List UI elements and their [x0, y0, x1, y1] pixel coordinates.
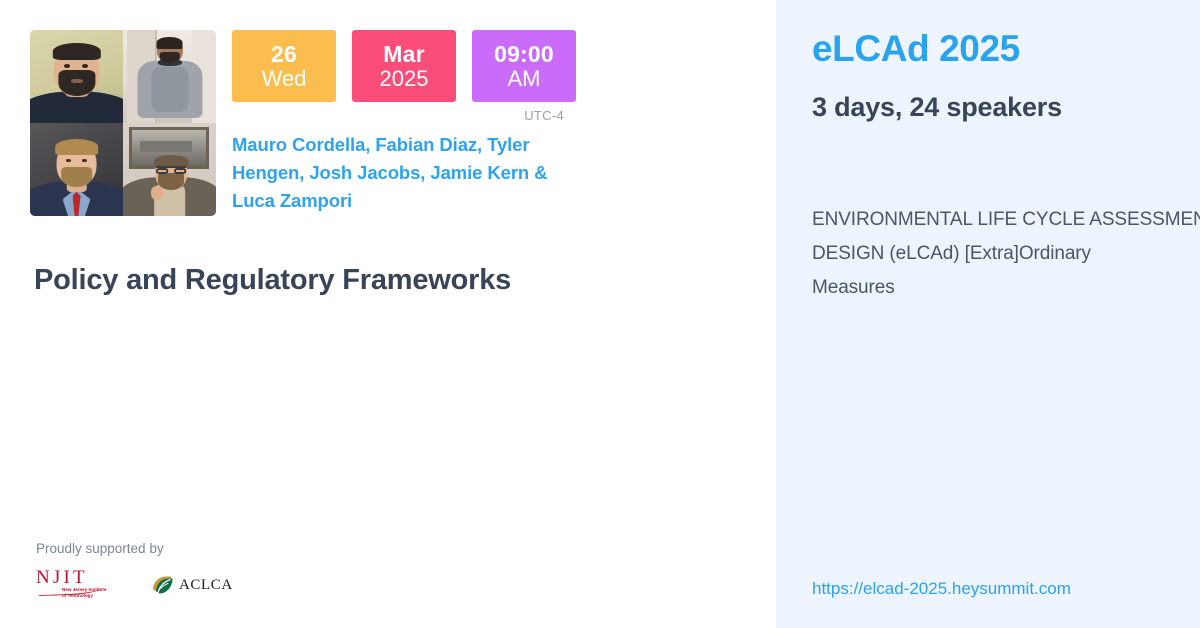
session-meta-column: 26 Wed Mar 2025 09:00 AM UTC-4 Maur [232, 30, 746, 215]
sponsors-section: Proudly supported by NJIT New Jersey Ins… [36, 541, 242, 602]
photo1-beard [58, 70, 95, 96]
aclca-logo-text: ACLCA [179, 577, 233, 594]
day-weekday: Wed [262, 67, 307, 91]
photo2-hair [156, 37, 183, 48]
summit-description: ENVIRONMENTAL LIFE CYCLE ASSESSMENT DESI… [812, 203, 1200, 304]
time-meridiem: AM [508, 67, 541, 91]
month-name: Mar [383, 42, 425, 67]
event-promo-card: 26 Wed Mar 2025 09:00 AM UTC-4 Maur [0, 0, 1200, 628]
njit-logo[interactable]: NJIT New Jersey Institute of Technology [36, 568, 118, 602]
speaker-photo-mosaic [30, 30, 216, 216]
photo4-frame-building [140, 141, 192, 152]
date-box-time: 09:00 AM [472, 30, 576, 102]
date-box-month: Mar 2025 [352, 30, 456, 102]
speaker-photo-1 [30, 30, 123, 123]
photo4-hand [151, 186, 163, 200]
photo2-sweater-shade [151, 67, 188, 112]
summit-name: eLCAd 2025 [812, 28, 1020, 70]
time-clock: 09:00 [494, 42, 554, 67]
photo4-glasses [156, 166, 186, 175]
photo3-hair [55, 139, 99, 155]
session-title: Policy and Regulatory Frameworks [34, 262, 736, 298]
photo4-beard [158, 173, 184, 190]
sponsors-label: Proudly supported by [36, 541, 242, 556]
timezone-label: UTC-4 [524, 108, 564, 123]
day-number: 26 [271, 42, 297, 67]
photo1-mouth [70, 79, 82, 83]
date-time-boxes: 26 Wed Mar 2025 09:00 AM [232, 30, 746, 102]
summit-url-link[interactable]: https://elcad-2025.heysummit.com [812, 579, 1071, 599]
photo1-eye-right [82, 64, 88, 68]
speaker-photo-3 [30, 123, 123, 216]
sponsor-logo-list: NJIT New Jersey Institute of Technology … [36, 568, 242, 602]
njit-logo-subtitle: New Jersey Institute of Technology [62, 587, 106, 599]
speaker-photo-2 [123, 30, 216, 123]
left-panel: 26 Wed Mar 2025 09:00 AM UTC-4 Maur [0, 0, 776, 628]
summit-stats: 3 days, 24 speakers [812, 92, 1062, 123]
photo1-hair [52, 43, 100, 60]
speaker-photo-4 [123, 123, 216, 216]
year-number: 2025 [380, 67, 429, 91]
session-header: 26 Wed Mar 2025 09:00 AM UTC-4 Maur [30, 30, 746, 216]
aclca-logo[interactable]: ACLCA [150, 572, 242, 598]
timezone-row: UTC-4 [232, 107, 572, 125]
aclca-leaf-icon [150, 573, 174, 597]
speakers-list[interactable]: Mauro Cordella, Fabian Diaz, Tyler Henge… [232, 131, 578, 215]
date-box-day: 26 Wed [232, 30, 336, 102]
right-panel: eLCAd 2025 3 days, 24 speakers ENVIRONME… [776, 0, 1200, 628]
